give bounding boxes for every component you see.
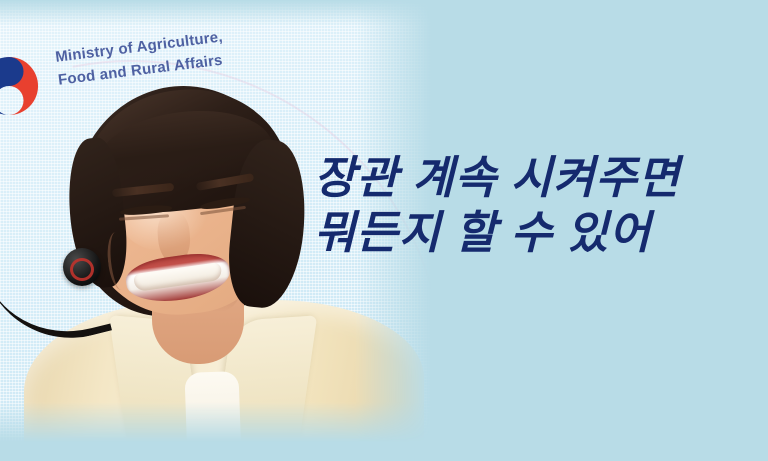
image-canvas: Ministry of Agriculture, Food and Rural … [0,0,768,461]
headline-line-2: 뭐든지 할 수 있어 [314,205,754,260]
microphone-red-ring [70,258,94,281]
headline-text: 장관 계속 시켜주면 뭐든지 할 수 있어 [314,150,754,260]
headline-line-1: 장관 계속 시켜주면 [314,150,754,205]
inner-blouse [184,371,241,461]
teeth [133,262,223,292]
